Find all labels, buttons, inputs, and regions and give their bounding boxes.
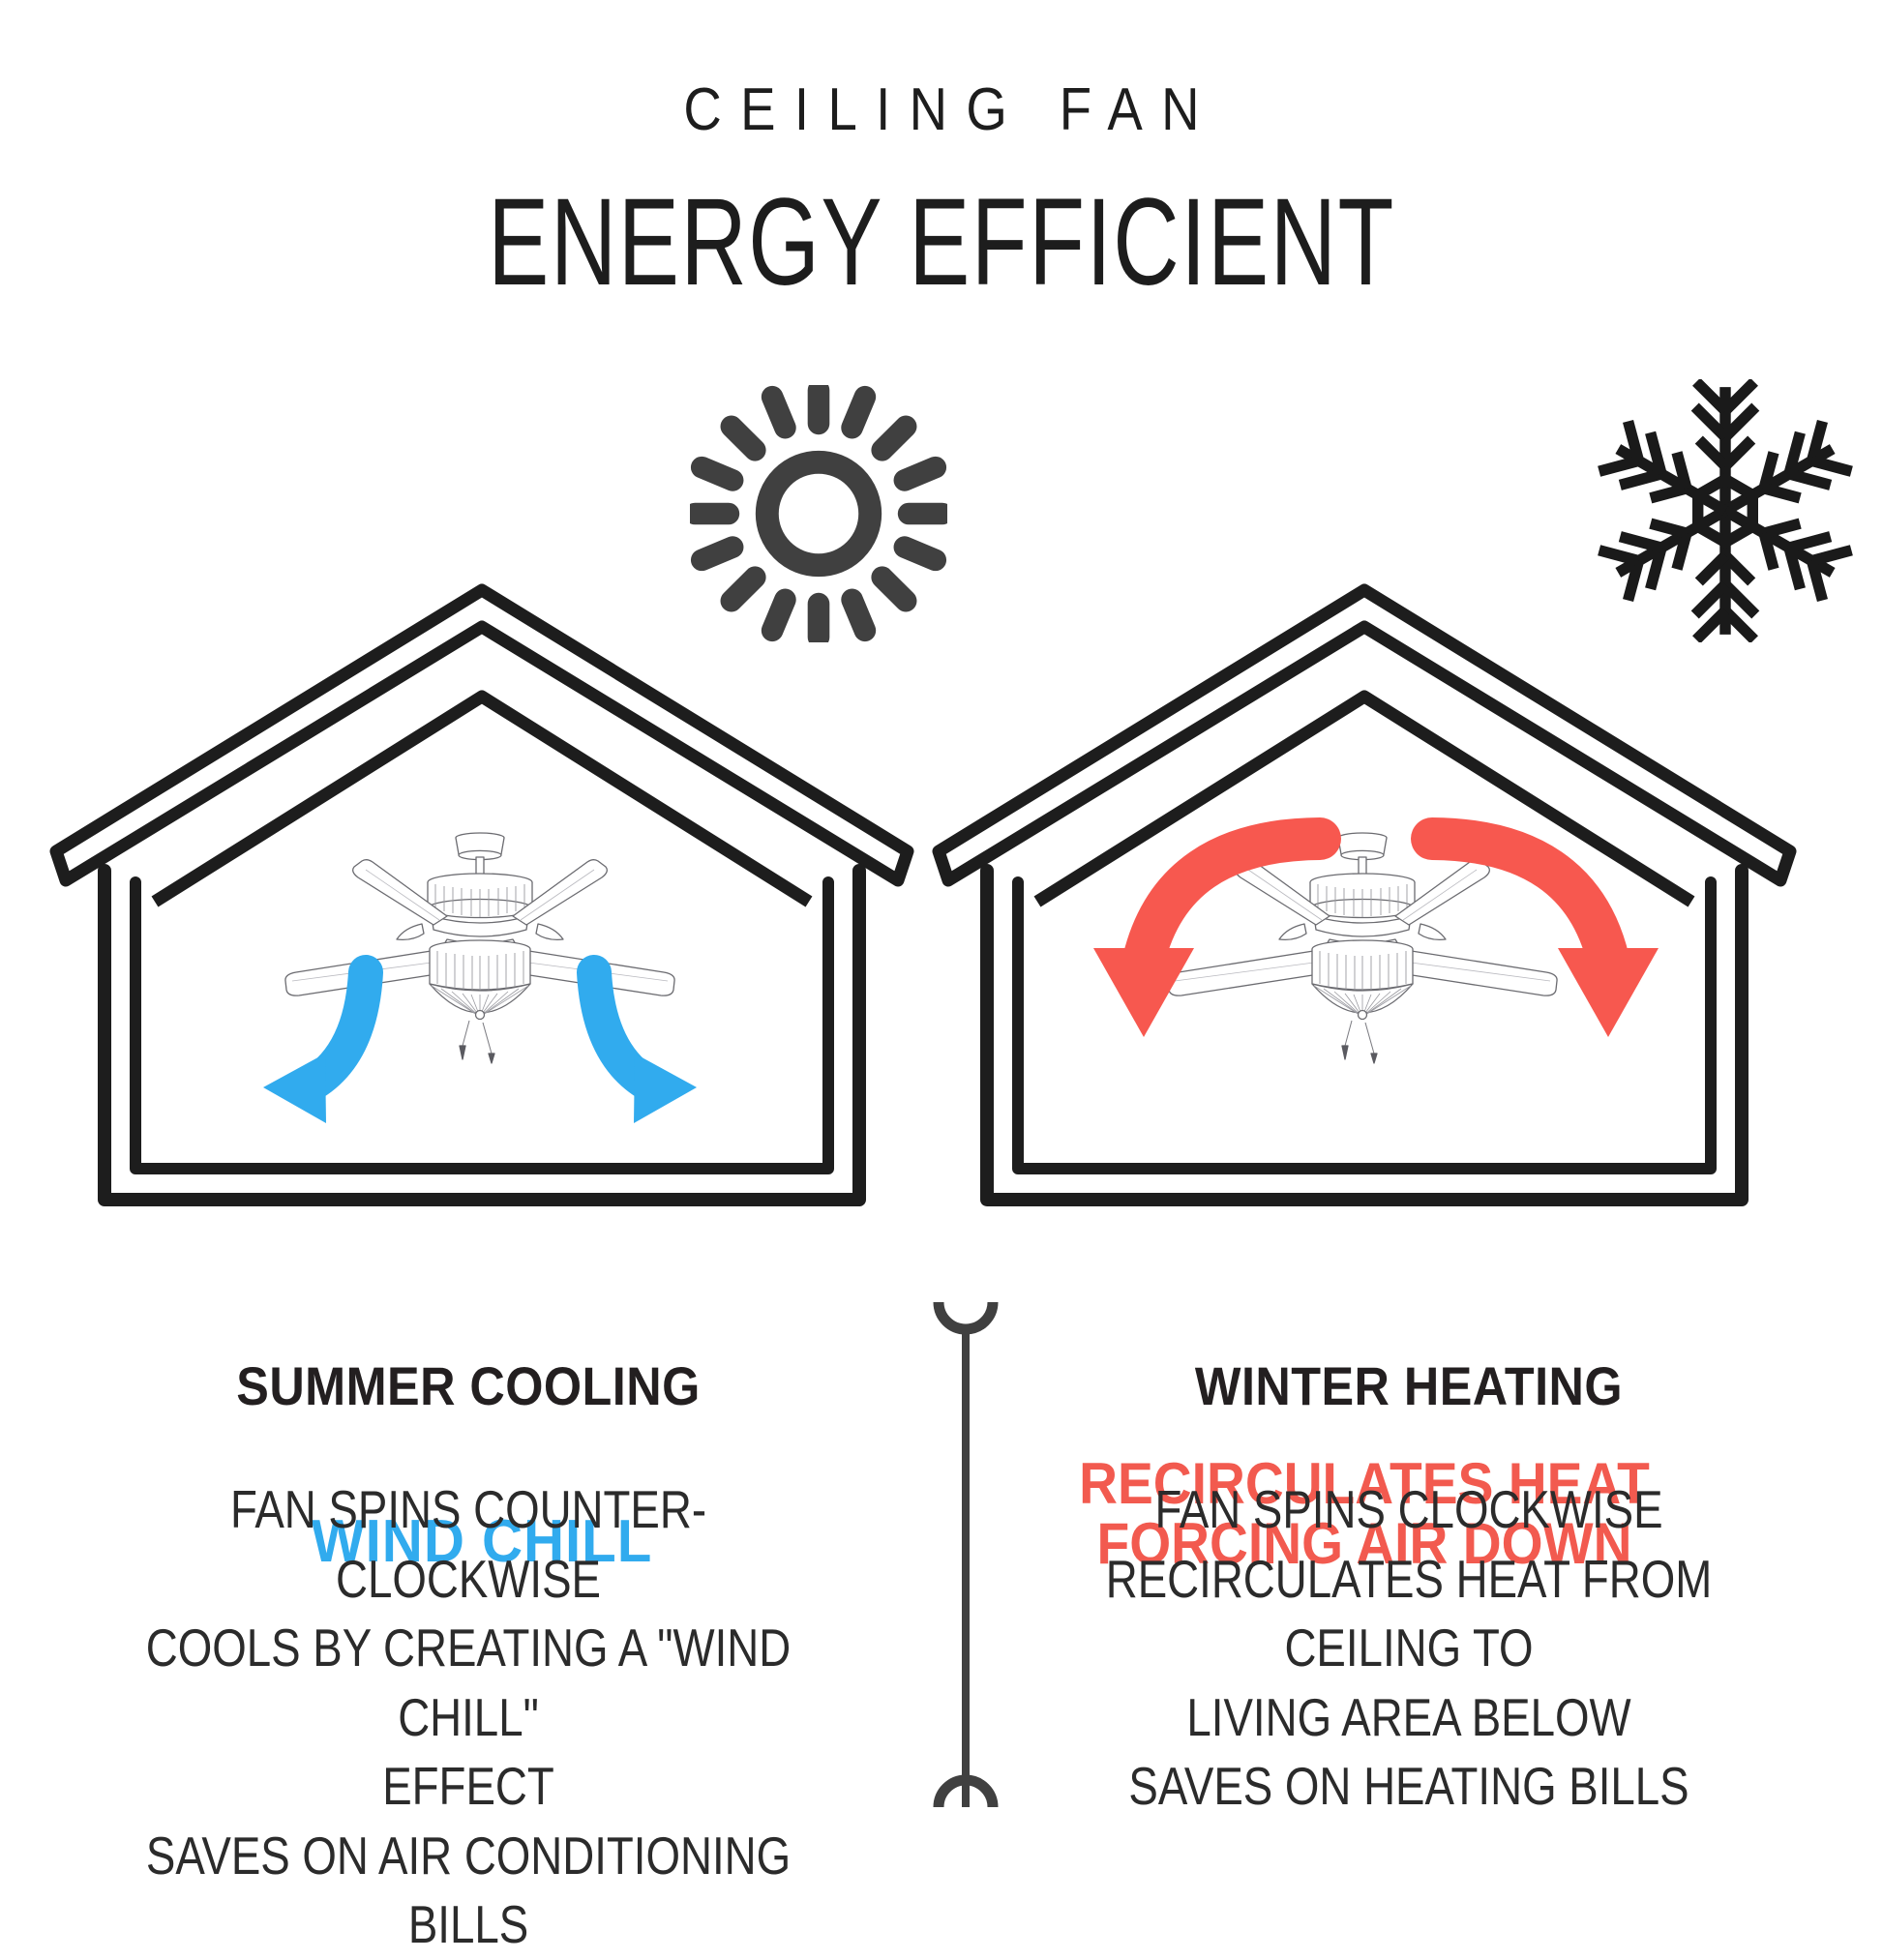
page-header: CEILING FAN ENERGY EFFICIENT (0, 0, 1883, 313)
eyebrow-title: CEILING FAN (113, 75, 1770, 144)
panel-summer-cooling: WIND CHILL (46, 580, 917, 1335)
caption-body-summer: FAN SPINS COUNTER-CLOCKWISE COOLS BY CRE… (107, 1475, 830, 1960)
airflow-arrows-red (929, 580, 1800, 1335)
caption-title-winter: WINTER HEATING (1017, 1354, 1801, 1417)
caption-title-summer: SUMMER COOLING (76, 1354, 860, 1417)
caption-winter: WINTER HEATING FAN SPINS CLOCKWISE RECIR… (973, 1354, 1844, 1822)
airflow-arrows-blue (46, 580, 917, 1335)
caption-body-winter: FAN SPINS CLOCKWISE RECIRCULATES HEAT FR… (1048, 1475, 1771, 1822)
caption-summer: SUMMER COOLING FAN SPINS COUNTER-CLOCKWI… (33, 1354, 904, 1960)
panel-winter-heating: RECIRCULATES HEAT FORCING AIR DOWN (929, 580, 1800, 1335)
page-title: ENERGY EFFICIENT (245, 171, 1638, 313)
